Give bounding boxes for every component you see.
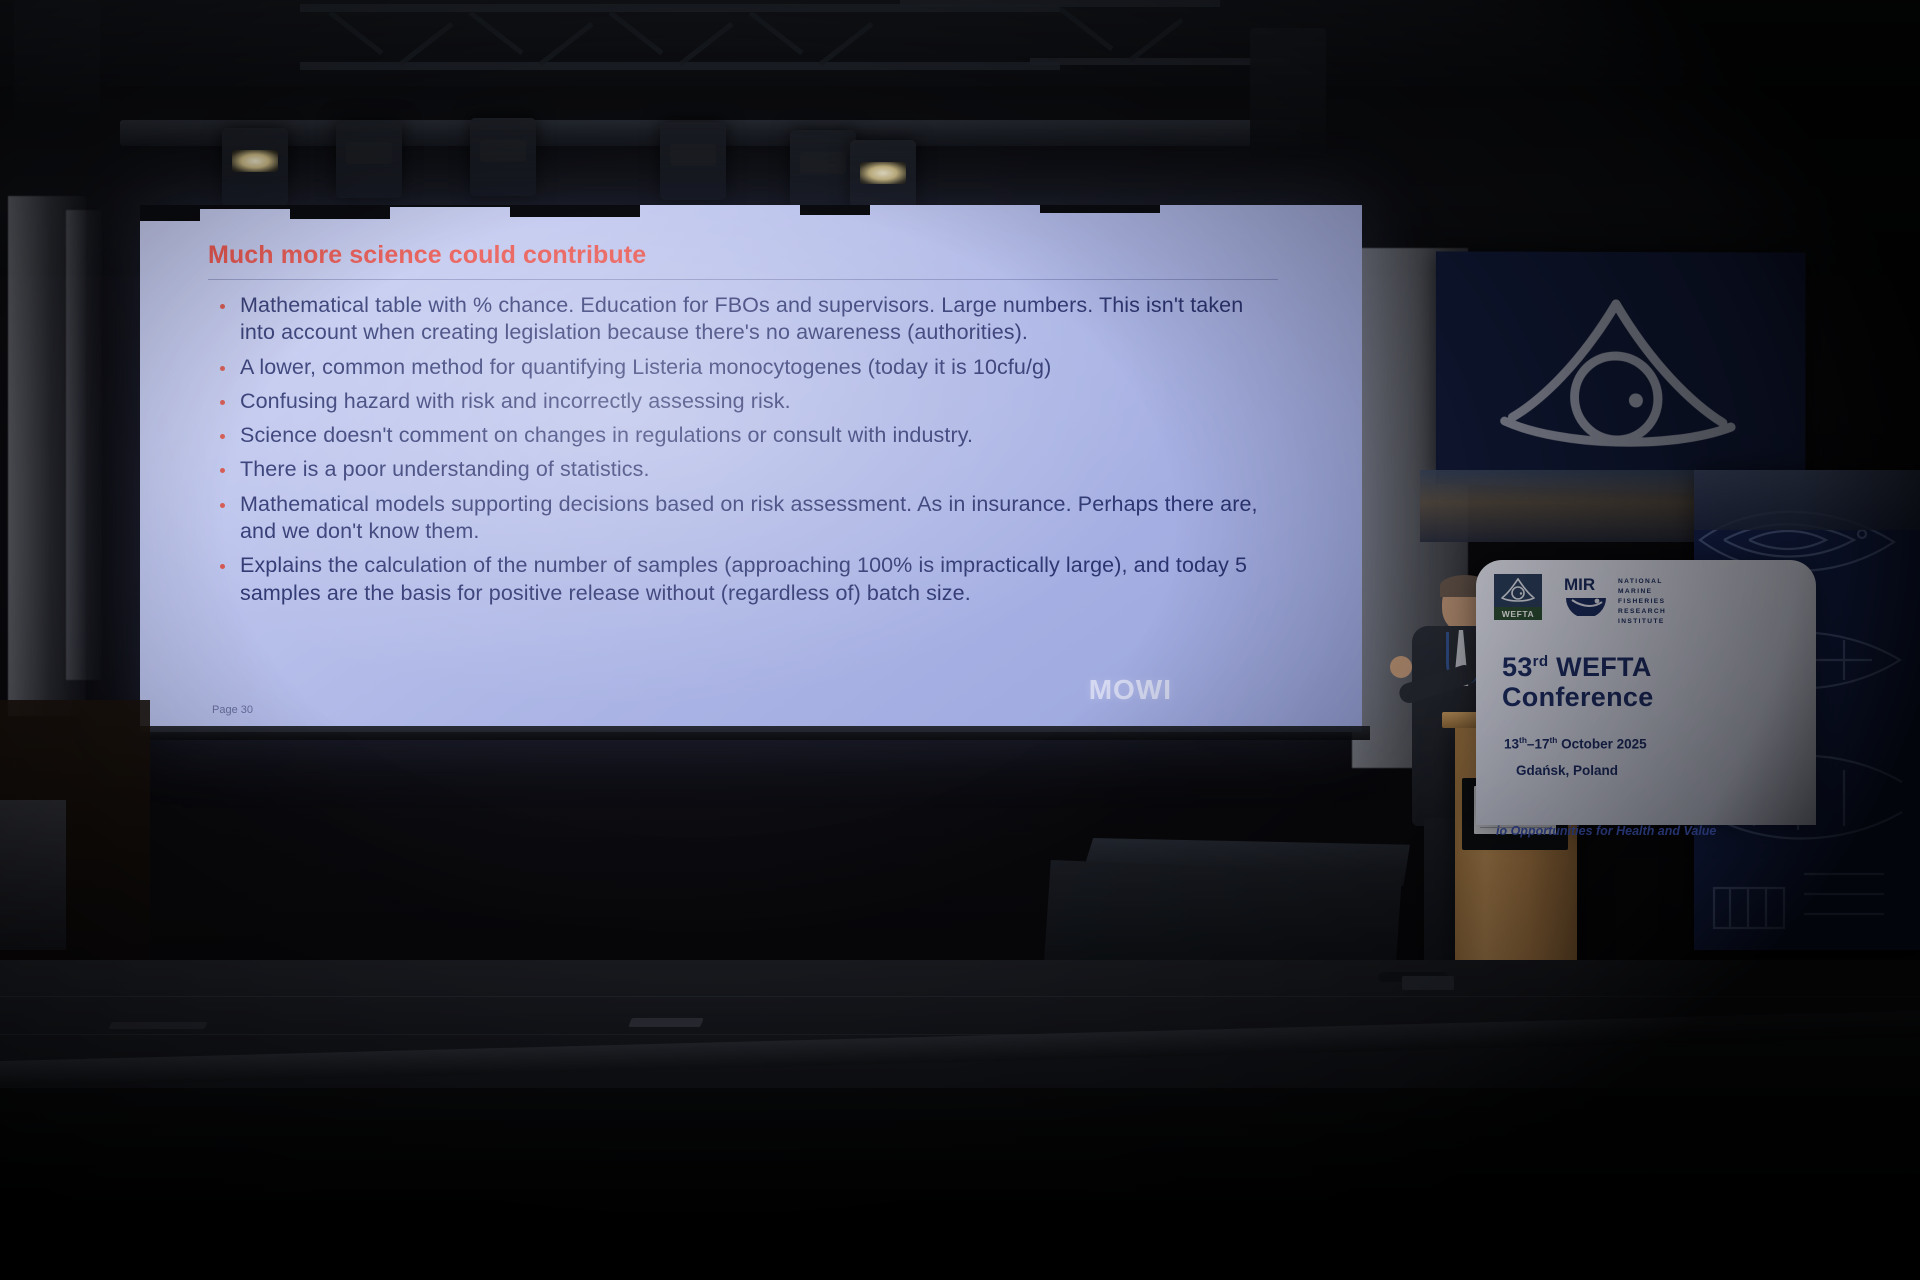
spotlight-fixture: [470, 118, 536, 196]
date-start-ordinal: th: [1519, 735, 1527, 745]
spotlight-fixture: [336, 120, 402, 198]
floor-tape-mark: [108, 1022, 207, 1029]
conference-tagline: io Opportunities for Health and Value: [1496, 824, 1826, 838]
presentation-slide: Much more science could contribute Mathe…: [140, 205, 1362, 732]
slide-bullet: Explains the calculation of the number o…: [212, 552, 1270, 607]
conference-dates: 13th–17th October 2025: [1504, 735, 1647, 752]
slide-bullet: A lower, common method for quantifying L…: [212, 354, 1270, 381]
foreground-darkness: [0, 1088, 1920, 1280]
slide-bullet-list: Mathematical table with % chance. Educat…: [212, 292, 1318, 607]
slide-bullet: Science doesn't comment on changes in re…: [212, 422, 1270, 449]
conference-backdrop-banner: WEFTA MIR NATIONAL MARINE FISHERIES RESE…: [1476, 560, 1816, 825]
wefta-logo-label: WEFTA: [1494, 607, 1542, 620]
spotlight-fixture: [790, 130, 856, 208]
spotlight-fixture: [222, 128, 288, 206]
slide-bullet: Mathematical models supporting decisions…: [212, 491, 1270, 546]
date-month-year: October 2025: [1557, 737, 1646, 752]
conference-title: 53rd WEFTA Conference: [1502, 652, 1654, 712]
wefta-triquetra-icon: [1494, 574, 1542, 607]
banner-photo-strip: [1694, 470, 1920, 530]
pa-speaker-cabinet: [14, 0, 100, 120]
mir-word: RESEARCH: [1618, 607, 1666, 617]
slide-page-number: Page 30: [212, 704, 253, 716]
presenter-hand: [1390, 656, 1412, 678]
wefta-logo: WEFTA: [1494, 574, 1542, 620]
date-start-day: 13: [1504, 737, 1519, 752]
slide-bullet: Mathematical table with % chance. Educat…: [212, 292, 1270, 347]
mir-word: INSTITUTE: [1618, 617, 1666, 627]
mir-logo: MIR NATIONAL MARINE FISHERIES RESEARCH I…: [1564, 574, 1666, 627]
slide-title-divider: [208, 279, 1278, 280]
mir-word: FISHERIES: [1618, 597, 1666, 607]
banner-logo-row: WEFTA MIR NATIONAL MARINE FISHERIES RESE…: [1494, 574, 1802, 627]
date-end-day: 17: [1534, 737, 1549, 752]
mir-logo-words: NATIONAL MARINE FISHERIES RESEARCH INSTI…: [1618, 574, 1666, 627]
projection-screen: Much more science could contribute Mathe…: [140, 205, 1362, 732]
conference-title-second-line: Conference: [1502, 682, 1654, 712]
conference-edition-ordinal: rd: [1533, 653, 1549, 670]
svg-text:MIR: MIR: [1564, 575, 1595, 594]
mir-fish-icon: MIR: [1564, 574, 1612, 616]
slide-bullet: There is a poor understanding of statist…: [212, 456, 1270, 483]
conference-title-main: WEFTA: [1548, 652, 1651, 682]
spotlight-fixture: [660, 122, 726, 200]
mir-word: NATIONAL: [1618, 577, 1666, 587]
conference-edition-number: 53: [1502, 652, 1533, 682]
stage-drape-left-secondary: [66, 210, 102, 680]
slide-title: Much more science could contribute: [208, 241, 1318, 270]
conference-stage-photo: Much more science could contribute Mathe…: [0, 0, 1920, 1280]
screen-bottom-frame: [132, 726, 1370, 740]
slide-corporate-logo: MOWI: [1089, 674, 1172, 706]
side-equipment-table: [0, 800, 66, 950]
floor-tape-mark: [628, 1018, 704, 1027]
mir-word: MARINE: [1618, 587, 1666, 597]
stage-floor-object: [1402, 976, 1454, 990]
pa-speaker-cabinet: [1250, 28, 1326, 158]
conference-location: Gdańsk, Poland: [1516, 763, 1618, 778]
slide-bullet: Confusing hazard with risk and incorrect…: [212, 388, 1270, 415]
wefta-triquetra-flag: [1436, 251, 1805, 496]
